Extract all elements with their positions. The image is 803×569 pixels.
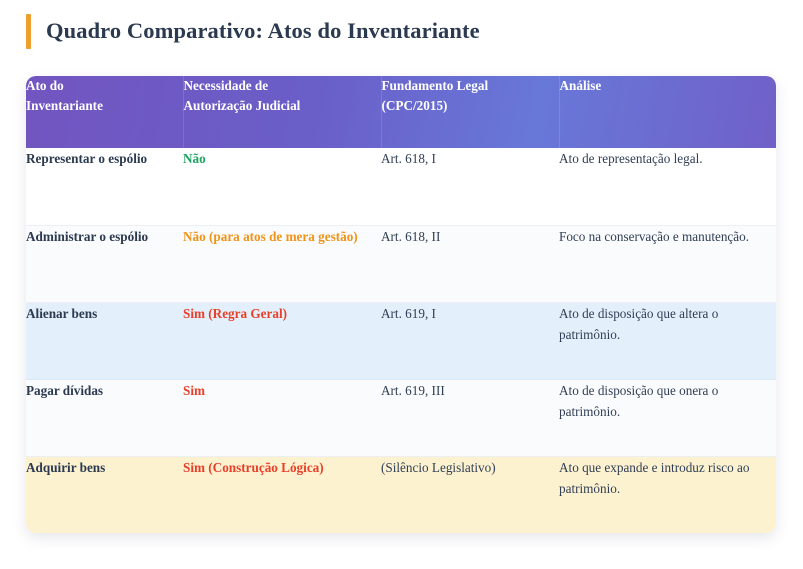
column-header-ato: Ato do Inventariante — [26, 76, 183, 148]
table-row: Alienar bens Sim (Regra Geral) Art. 619,… — [26, 302, 776, 379]
title-accent-bar — [26, 14, 31, 49]
column-header-necessidade: Necessidade de Autorização Judicial — [183, 76, 381, 148]
cell-ato: Administrar o espólio — [26, 225, 183, 302]
cell-necessidade: Não — [183, 148, 381, 225]
table-row: Adquirir bens Sim (Construção Lógica) (S… — [26, 456, 776, 533]
cell-fundamento: Art. 618, I — [381, 148, 559, 225]
column-header-ato-line2: Inventariante — [26, 96, 183, 116]
cell-necessidade: Não (para atos de mera gestão) — [183, 225, 381, 302]
table-row: Pagar dívidas Sim Art. 619, III Ato de d… — [26, 379, 776, 456]
page-title: Quadro Comparativo: Atos do Inventariant… — [46, 20, 480, 43]
column-header-fundamento-line1: Fundamento Legal — [382, 76, 559, 96]
cell-necessidade: Sim — [183, 379, 381, 456]
cell-analise: Ato de representação legal. — [559, 148, 776, 225]
comparison-table-page: Quadro Comparativo: Atos do Inventariant… — [0, 0, 803, 569]
page-title-block: Quadro Comparativo: Atos do Inventariant… — [26, 12, 480, 50]
cell-analise: Ato de disposição que onera o patrimônio… — [559, 379, 776, 456]
comparison-table: Ato do Inventariante Necessidade de Auto… — [26, 76, 776, 533]
table-header-row: Ato do Inventariante Necessidade de Auto… — [26, 76, 776, 148]
cell-necessidade: Sim (Regra Geral) — [183, 302, 381, 379]
column-header-analise: Análise — [559, 76, 776, 148]
cell-analise: Foco na conservação e manutenção. — [559, 225, 776, 302]
cell-fundamento: Art. 618, II — [381, 225, 559, 302]
comparison-table-container: Ato do Inventariante Necessidade de Auto… — [26, 76, 776, 533]
cell-fundamento: Art. 619, III — [381, 379, 559, 456]
column-header-fundamento: Fundamento Legal (CPC/2015) — [381, 76, 559, 148]
cell-analise: Ato que expande e introduz risco ao patr… — [559, 456, 776, 533]
column-header-analise-line1: Análise — [560, 76, 777, 96]
cell-analise: Ato de disposição que altera o patrimôni… — [559, 302, 776, 379]
cell-ato: Adquirir bens — [26, 456, 183, 533]
table-header: Ato do Inventariante Necessidade de Auto… — [26, 76, 776, 148]
column-header-fundamento-line2: (CPC/2015) — [382, 96, 559, 116]
cell-ato: Pagar dívidas — [26, 379, 183, 456]
cell-ato: Alienar bens — [26, 302, 183, 379]
table-row: Representar o espólio Não Art. 618, I At… — [26, 148, 776, 225]
column-header-ato-line1: Ato do — [26, 76, 183, 96]
cell-fundamento: Art. 619, I — [381, 302, 559, 379]
cell-ato: Representar o espólio — [26, 148, 183, 225]
column-header-necessidade-line2: Autorização Judicial — [184, 96, 381, 116]
cell-fundamento: (Silêncio Legislativo) — [381, 456, 559, 533]
column-header-necessidade-line1: Necessidade de — [184, 76, 381, 96]
table-row: Administrar o espólio Não (para atos de … — [26, 225, 776, 302]
table-body: Representar o espólio Não Art. 618, I At… — [26, 148, 776, 533]
cell-necessidade: Sim (Construção Lógica) — [183, 456, 381, 533]
